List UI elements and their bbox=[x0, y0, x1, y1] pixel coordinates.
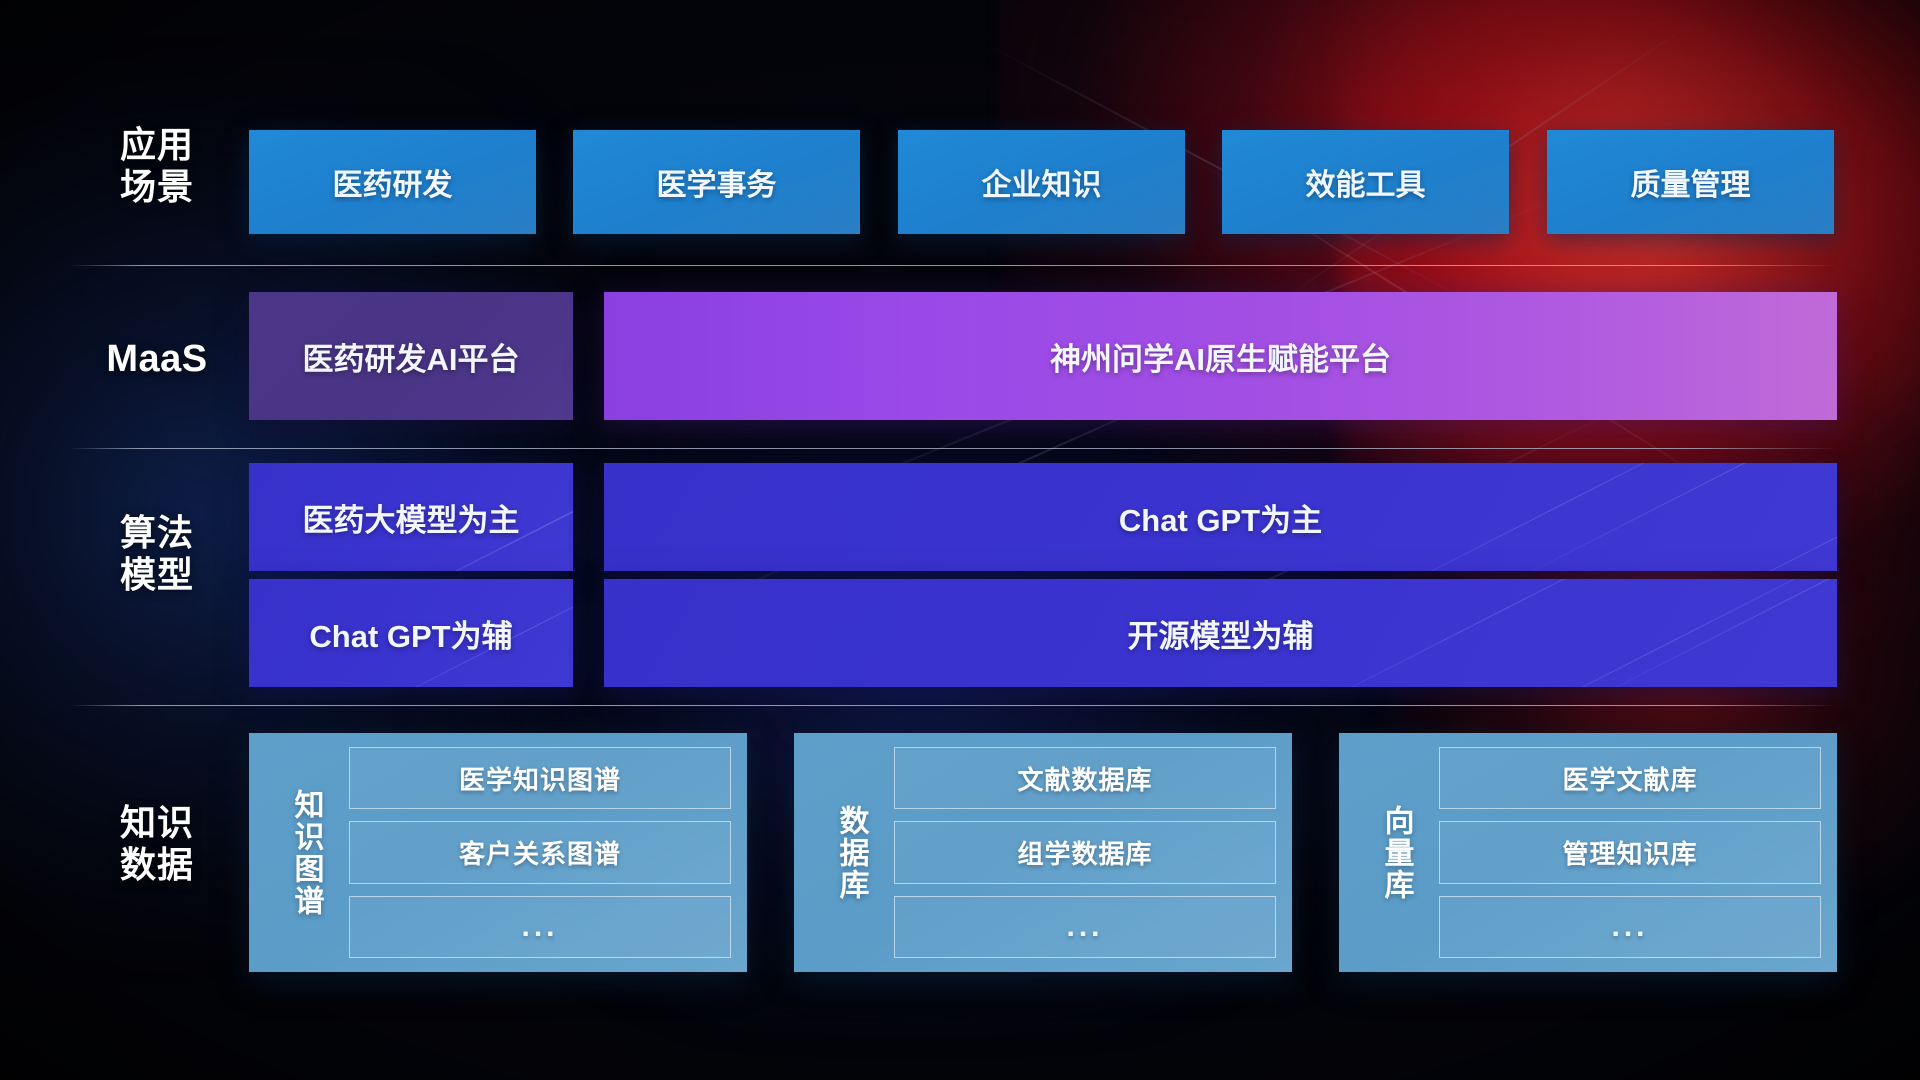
knowledge-panel-database-items: 文献数据库 组学数据库 ... bbox=[894, 747, 1276, 958]
knowledge-panel-database-title: 数据库 bbox=[808, 747, 894, 958]
knowledge-panel-database[interactable]: 数据库 文献数据库 组学数据库 ... bbox=[794, 733, 1292, 972]
scenario-card-4-label: 效能工具 bbox=[1306, 160, 1426, 204]
algorithm-card-right-1-label: Chat GPT为主 bbox=[1119, 495, 1322, 540]
algorithm-card-right-1[interactable]: Chat GPT为主 bbox=[604, 463, 1837, 571]
algorithm-card-left-1-label: 医药大模型为主 bbox=[303, 495, 520, 540]
algorithm-card-left-1[interactable]: 医药大模型为主 bbox=[249, 463, 573, 571]
maas-card-left[interactable]: 医药研发AI平台 bbox=[249, 292, 573, 420]
maas-card-left-label: 医药研发AI平台 bbox=[303, 334, 520, 379]
algorithm-card-right-2-label: 开源模型为辅 bbox=[1128, 611, 1314, 656]
architecture-diagram: 应用场景 医药研发 医学事务 企业知识 效能工具 质量管理 MaaS 医药研发A… bbox=[0, 0, 1920, 1080]
scenario-card-2[interactable]: 医学事务 bbox=[573, 130, 860, 234]
knowledge-panel-graph-title: 知识图谱 bbox=[263, 747, 349, 958]
scenario-card-3[interactable]: 企业知识 bbox=[898, 130, 1185, 234]
knowledge-item-more[interactable]: ... bbox=[894, 896, 1276, 958]
algorithm-card-left-2-label: Chat GPT为辅 bbox=[309, 611, 512, 656]
divider-algorithm-knowledge bbox=[70, 705, 1838, 706]
scenario-card-5-label: 质量管理 bbox=[1631, 160, 1751, 204]
divider-scenarios-maas bbox=[70, 265, 1838, 266]
knowledge-item[interactable]: 医学知识图谱 bbox=[349, 747, 731, 809]
maas-card-right[interactable]: 神州问学AI原生赋能平台 bbox=[604, 292, 1837, 420]
knowledge-item[interactable]: 医学文献库 bbox=[1439, 747, 1821, 809]
row-label-knowledge: 知识数据 bbox=[72, 802, 242, 887]
row-label-algorithm: 算法模型 bbox=[72, 512, 242, 597]
knowledge-item-more[interactable]: ... bbox=[349, 896, 731, 958]
scenario-card-4[interactable]: 效能工具 bbox=[1222, 130, 1509, 234]
scenario-card-5[interactable]: 质量管理 bbox=[1547, 130, 1834, 234]
scenario-card-1[interactable]: 医药研发 bbox=[249, 130, 536, 234]
algorithm-card-right-2[interactable]: 开源模型为辅 bbox=[604, 579, 1837, 687]
knowledge-item[interactable]: 文献数据库 bbox=[894, 747, 1276, 809]
knowledge-panel-vector-title: 向量库 bbox=[1353, 747, 1439, 958]
knowledge-item-more[interactable]: ... bbox=[1439, 896, 1821, 958]
knowledge-panel-vector-items: 医学文献库 管理知识库 ... bbox=[1439, 747, 1821, 958]
knowledge-item[interactable]: 组学数据库 bbox=[894, 821, 1276, 883]
row-label-scenarios: 应用场景 bbox=[72, 124, 242, 209]
diagram-content: 应用场景 医药研发 医学事务 企业知识 效能工具 质量管理 MaaS 医药研发A… bbox=[0, 0, 1920, 1080]
knowledge-item[interactable]: 管理知识库 bbox=[1439, 821, 1821, 883]
divider-maas-algorithm bbox=[70, 448, 1838, 449]
knowledge-panel-vector[interactable]: 向量库 医学文献库 管理知识库 ... bbox=[1339, 733, 1837, 972]
knowledge-item[interactable]: 客户关系图谱 bbox=[349, 821, 731, 883]
maas-card-right-label: 神州问学AI原生赋能平台 bbox=[1050, 334, 1391, 379]
algorithm-card-left-2[interactable]: Chat GPT为辅 bbox=[249, 579, 573, 687]
scenario-card-3-label: 企业知识 bbox=[982, 160, 1102, 204]
knowledge-panel-graph-items: 医学知识图谱 客户关系图谱 ... bbox=[349, 747, 731, 958]
scenario-card-2-label: 医学事务 bbox=[657, 160, 777, 204]
knowledge-panel-graph[interactable]: 知识图谱 医学知识图谱 客户关系图谱 ... bbox=[249, 733, 747, 972]
scenario-card-1-label: 医药研发 bbox=[333, 160, 453, 204]
row-label-maas: MaaS bbox=[72, 337, 242, 382]
